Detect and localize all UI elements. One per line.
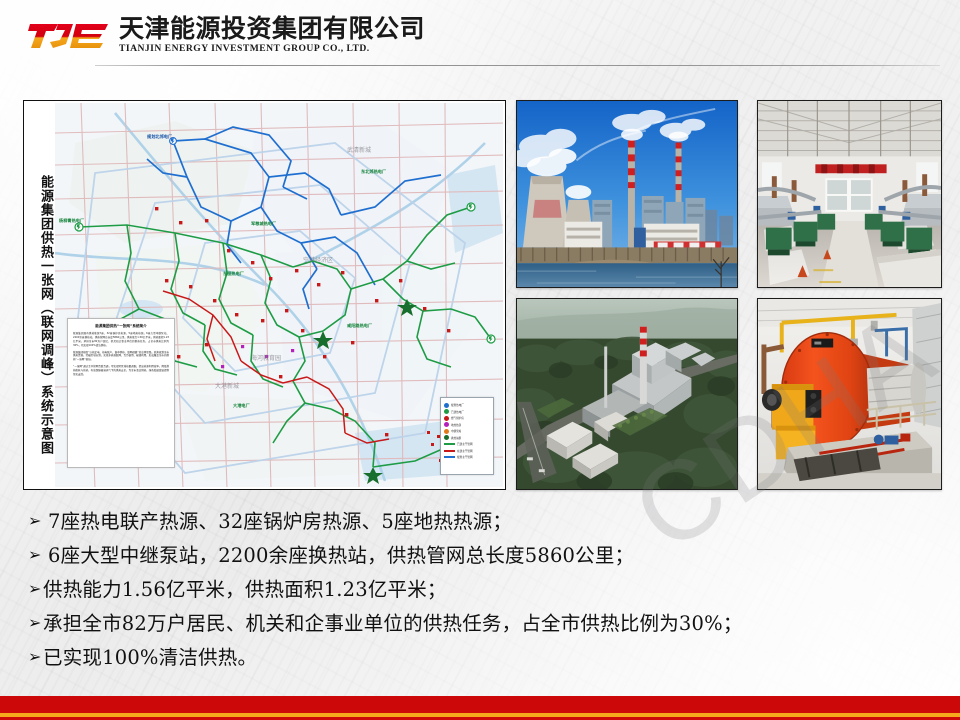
map-label-dagang-plant: 大港电厂 <box>233 403 250 409</box>
bullet-text: 7座热电联产热源、32座锅炉房热源、5座地热热源； <box>48 512 933 532</box>
legend-swatch-pump-station <box>444 429 449 434</box>
bullet-list: ➢ 7座热电联产热源、32座锅炉房热源、5座地热热源； ➢ 6座大型中继泵站，2… <box>28 512 933 682</box>
legend-swatch-substation <box>444 435 449 440</box>
slide-footer <box>0 696 960 720</box>
map-info-paragraph: 能源集团现有供热能源7座、32座锅炉房热源、5座地热热源，6座大型中继泵站、22… <box>73 332 169 348</box>
bullet-marker-icon: ➢ <box>28 512 48 530</box>
tje-logo-icon <box>28 18 110 52</box>
legend-item: 在建主干管网 <box>444 448 490 454</box>
legend-swatch-geothermal <box>444 422 449 427</box>
map-info-title: 能源集团供热“一张网”系统简介 <box>73 324 169 329</box>
map-info-paragraph: 能源集团按照“以热定电、热电联产、集中供热、联网调峰”的总体思路，统筹规划全市供… <box>73 351 169 363</box>
legend-item: 已建热电厂 <box>444 409 490 415</box>
legend-item: 地热热源 <box>444 422 490 428</box>
map-area-label-airport-zone: 空港经济区 <box>303 255 333 264</box>
legend-label: 已建热电厂 <box>451 410 464 414</box>
slide-root: 天津能源投资集团有限公司 TIANJIN ENERGY INVESTMENT G… <box>0 0 960 720</box>
bullet-text: 承担全市82万户居民、机关和企事业单位的供热任务，占全市供热比例为30%； <box>43 614 933 634</box>
plant-aerial-rendering-photo[interactable] <box>516 298 738 490</box>
legend-item: 规划主干管网 <box>444 454 490 460</box>
footer-red-band <box>0 696 960 713</box>
legend-label: 燃气锅炉房 <box>451 416 464 420</box>
legend-swatch-built-pipe <box>444 443 455 445</box>
map-label-junliangcheng-plant: 军粮城热电厂 <box>251 221 276 227</box>
bullet-item: ➢ 承担全市82万户居民、机关和企事业单位的供热任务，占全市供热比例为30%； <box>28 614 933 634</box>
legend-swatch-gas-boiler <box>444 416 449 421</box>
map-info-paragraph: “一张网”通过主干管网互联互通，可实现跨区域热量调配，提高热源利用效率，降低供热… <box>73 365 169 377</box>
bullet-text: 已实现100%清洁供热。 <box>43 648 933 668</box>
bullet-item: ➢ 已实现100%清洁供热。 <box>28 648 933 668</box>
map-label-planned-north-plant: 规划北郊电厂 <box>147 134 172 140</box>
legend-label: 已建主干管网 <box>457 442 473 446</box>
company-name-cn: 天津能源投资集团有限公司 <box>119 16 425 42</box>
map-area-label-haihe-edu: 海河教育园 <box>251 353 281 362</box>
gas-boiler-photo[interactable] <box>757 298 942 490</box>
company-name-en: TIANJIN ENERGY INVESTMENT GROUP CO., LTD… <box>119 43 425 55</box>
bullet-marker-icon: ➢ <box>28 546 48 564</box>
legend-item: 换热站群 <box>444 435 490 441</box>
pump-station-interior-photo[interactable] <box>757 100 942 288</box>
legend-label: 地热热源 <box>451 423 461 427</box>
bullet-marker-icon: ➢ <box>28 648 43 666</box>
legend-item: 已建主干管网 <box>444 441 490 447</box>
map-label-dongli-plant: 东丽热电厂 <box>223 271 244 277</box>
pump-hall-illustration <box>758 101 941 287</box>
map-canvas[interactable]: 规划北郊电厂 东北郊热电厂 杨柳青热电厂 军粮城热电厂 东丽热电厂 陈塘庄热电厂… <box>55 103 503 487</box>
legend-label: 在建主干管网 <box>457 449 473 453</box>
heating-network-map-panel[interactable]: 能源集团供热一张网（联网调峰）系统示意图 <box>23 100 506 490</box>
legend-swatch-construction-pipe <box>444 450 455 452</box>
slide-header: 天津能源投资集团有限公司 TIANJIN ENERGY INVESTMENT G… <box>0 0 960 66</box>
map-area-label-dagang-new: 大港新城 <box>215 381 239 390</box>
bullet-item: ➢ 6座大型中继泵站，2200余座换热站，供热管网总长度5860公里； <box>28 546 933 566</box>
map-label-yangliuqing-plant: 杨柳青热电厂 <box>59 218 84 224</box>
legend-label: 规划热电厂 <box>451 403 464 407</box>
bullet-item: ➢ 7座热电联产热源、32座锅炉房热源、5座地热热源； <box>28 512 933 532</box>
legend-item: 中继泵站 <box>444 428 490 434</box>
bullet-item: ➢ 供热能力1.56亿平米，供热面积1.23亿平米； <box>28 580 933 600</box>
legend-swatch-built-plant <box>444 409 449 414</box>
aerial-rendering-illustration <box>517 299 737 489</box>
power-plant-illustration <box>517 101 737 287</box>
bullet-marker-icon: ➢ <box>28 580 43 598</box>
legend-swatch-planned-pipe <box>444 456 455 458</box>
map-label-northeast-plant: 东北郊热电厂 <box>361 169 386 175</box>
legend-item: 规划热电厂 <box>444 402 490 408</box>
header-divider <box>95 65 940 66</box>
logo-text-block: 天津能源投资集团有限公司 TIANJIN ENERGY INVESTMENT G… <box>119 16 425 55</box>
legend-label: 规划主干管网 <box>457 455 473 459</box>
bullet-text: 6座大型中继泵站，2200余座换热站，供热管网总长度5860公里； <box>48 546 933 566</box>
company-logo: 天津能源投资集团有限公司 TIANJIN ENERGY INVESTMENT G… <box>28 16 425 55</box>
map-area-label-wuqing: 武清新城 <box>347 145 371 154</box>
map-panel-title: 能源集团供热一张网（联网调峰）系统示意图 <box>27 107 53 485</box>
map-info-box: 能源集团供热“一张网”系统简介 能源集团现有供热能源7座、32座锅炉房热源、5座… <box>67 318 175 468</box>
thermal-power-plant-photo[interactable] <box>516 100 738 288</box>
boiler-illustration <box>758 299 941 489</box>
legend-label: 中继泵站 <box>451 429 461 433</box>
bullet-text: 供热能力1.56亿平米，供热面积1.23亿平米； <box>43 580 933 600</box>
legend-label: 换热站群 <box>451 436 461 440</box>
map-label-xianyanglu-plant: 咸阳路热电厂 <box>347 323 372 329</box>
legend-item: 燃气锅炉房 <box>444 415 490 421</box>
map-legend: 规划热电厂 已建热电厂 燃气锅炉房 地热热源 中继泵站 换热站群 已建主干管网 … <box>440 397 494 475</box>
bullet-marker-icon: ➢ <box>28 614 43 632</box>
legend-swatch-planned-plant <box>444 403 449 408</box>
